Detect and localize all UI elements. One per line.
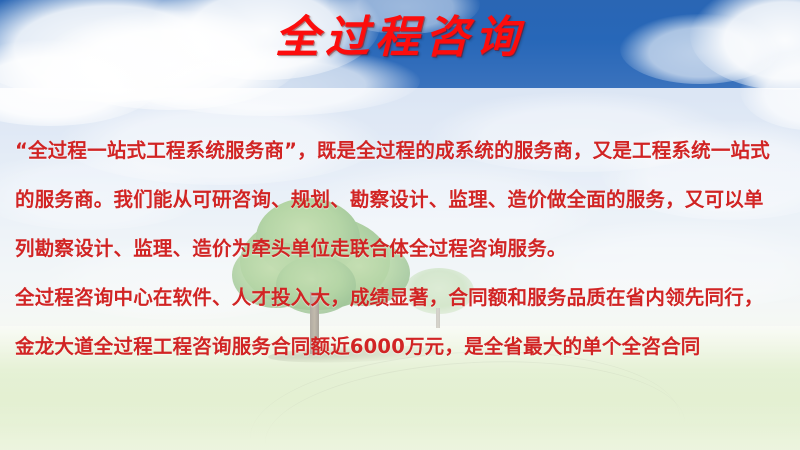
slide-body-text: “全过程一站式工程系统服务商”，既是全过程的成系统的服务商，又是工程系统一站式 … [15, 126, 793, 371]
body-line-2: 的服务商。我们能从可研咨询、规划、勘察设计、监理、造价做全面的服务，又可以单 [15, 175, 793, 224]
body-line-5: 金龙大道全过程工程咨询服务合同额近6000万元，是全省最大的单个全咨合同 [15, 322, 793, 371]
body-line-3: 列勘察设计、监理、造价为牵头单位走联合体全过程咨询服务。 [15, 224, 793, 273]
body-line-4: 全过程咨询中心在软件、人才投入大，成绩显著，合同额和服务品质在省内领先同行， [15, 273, 793, 322]
presentation-slide: 全过程咨询 “全过程一站式工程系统服务商”，既是全过程的成系统的服务商，又是工程… [0, 0, 800, 450]
slide-title: 全过程咨询 [0, 10, 800, 65]
body-line-1: “全过程一站式工程系统服务商”，既是全过程的成系统的服务商，又是工程系统一站式 [15, 126, 793, 175]
